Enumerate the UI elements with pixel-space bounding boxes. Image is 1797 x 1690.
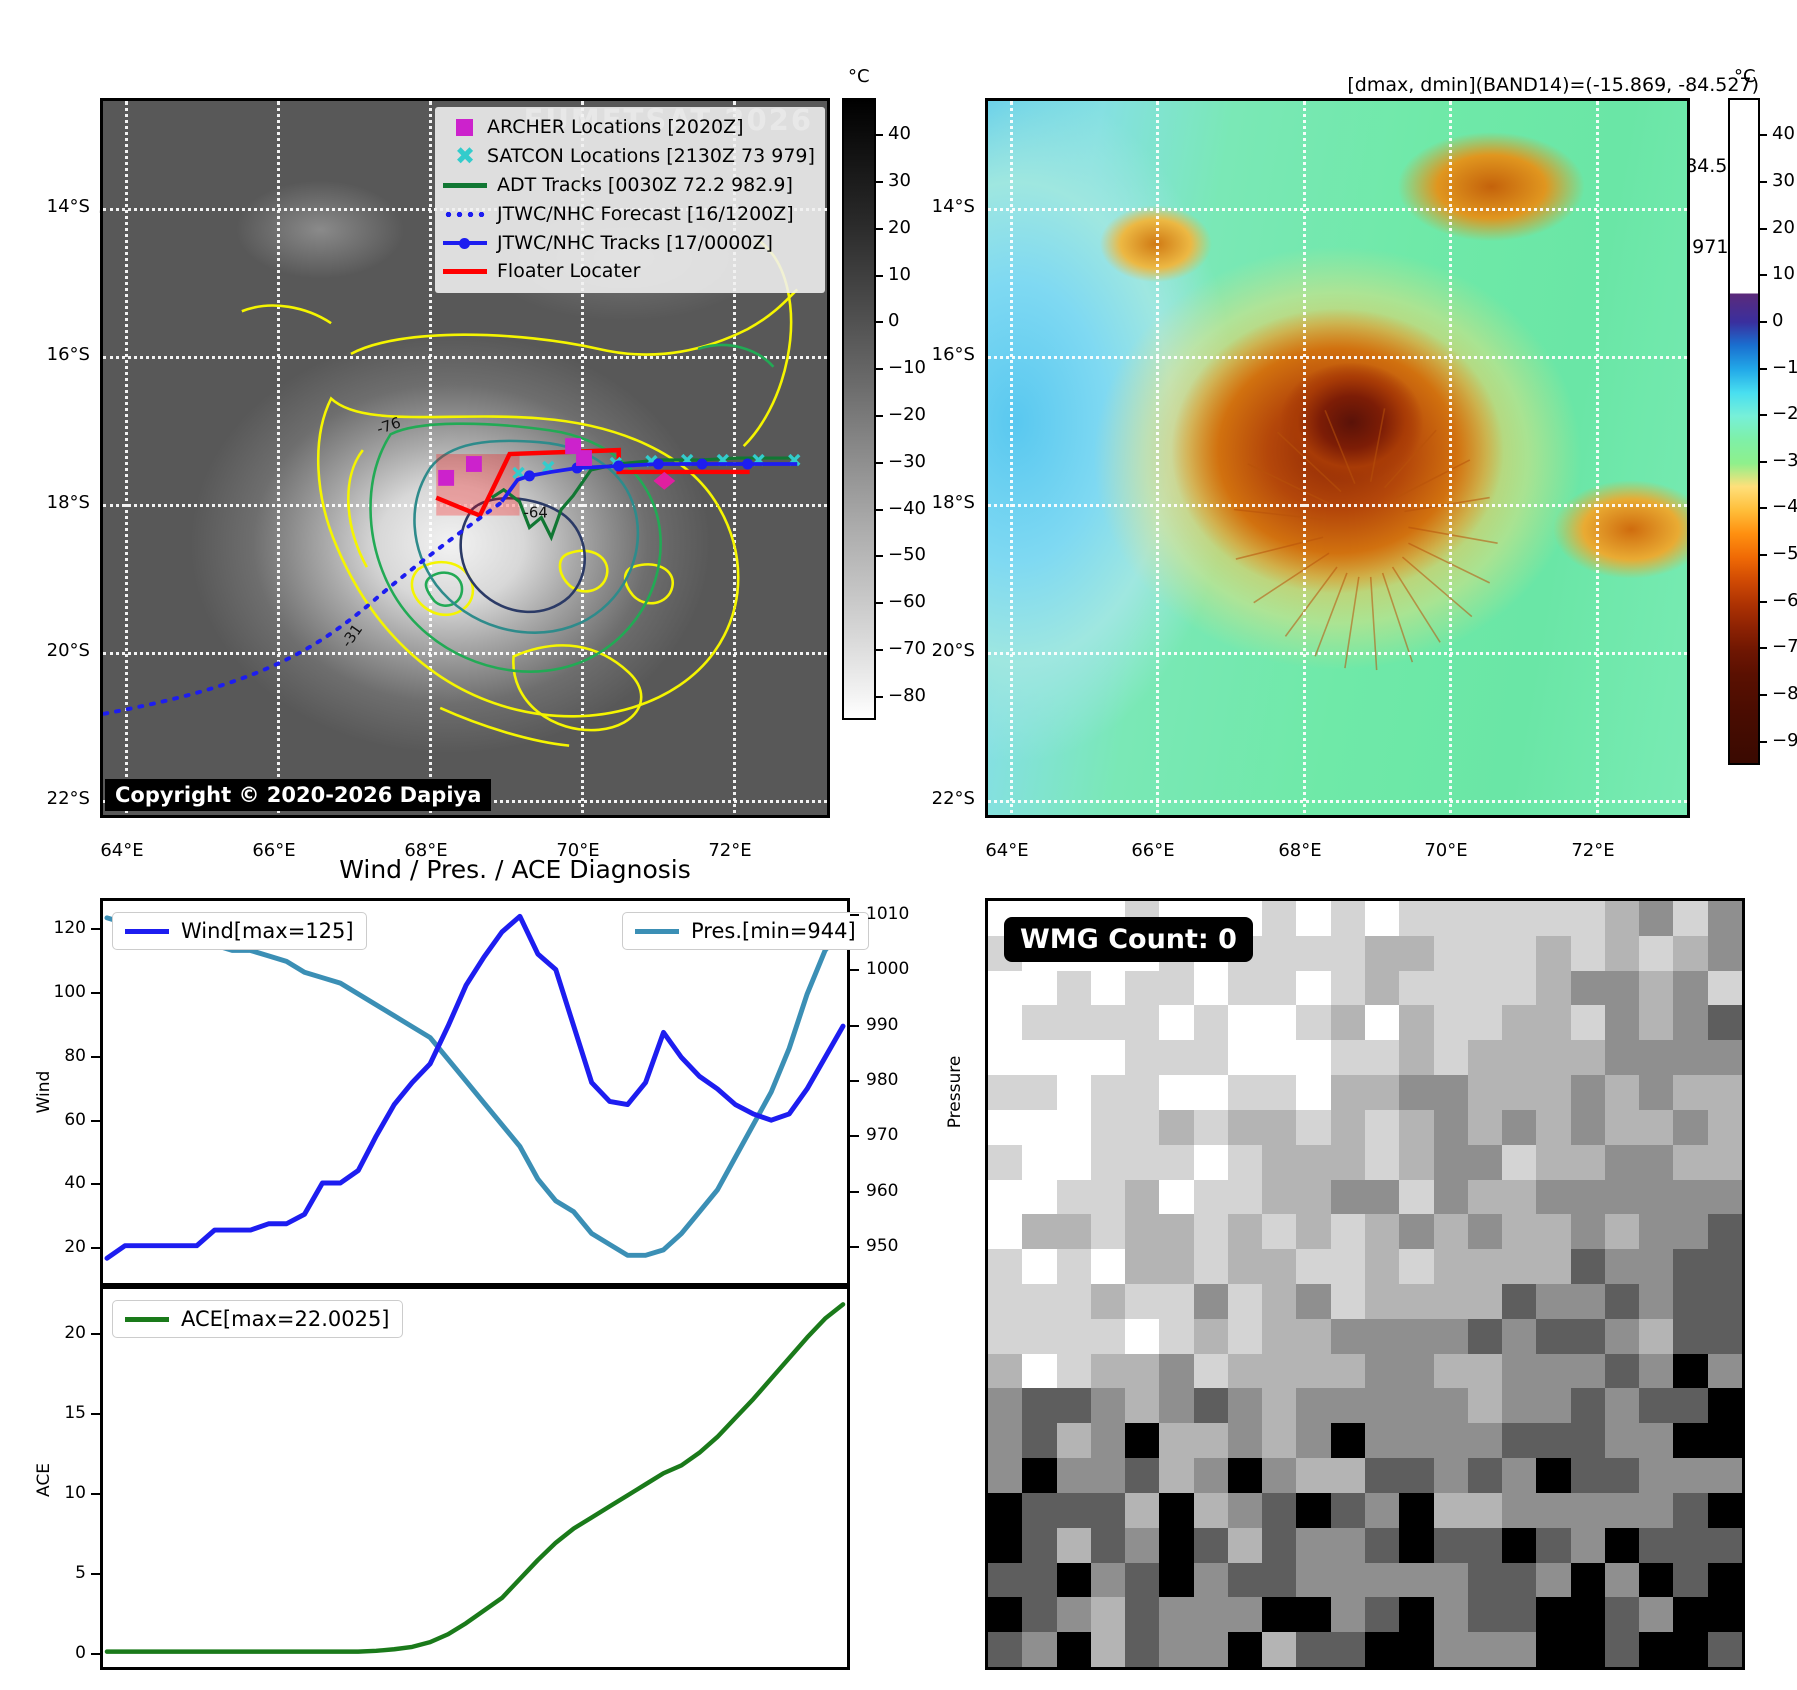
wmg-cell (1536, 1214, 1570, 1249)
wmg-cell (1639, 1423, 1673, 1458)
wmg-cell (1022, 1319, 1056, 1354)
wmg-cell (1605, 1388, 1639, 1423)
wmg-cell (988, 1110, 1022, 1145)
chart-y-tickmark (91, 1413, 100, 1415)
wmg-cell (1673, 1180, 1707, 1215)
wmg-cell (1262, 1354, 1296, 1389)
ace-line-swatch (125, 1317, 169, 1322)
wmg-cell (1125, 1214, 1159, 1249)
wmg-cell (1262, 1423, 1296, 1458)
wmg-cell (1331, 1110, 1365, 1145)
colorbar-tick-label: 20 (888, 217, 911, 238)
wmg-cell (1057, 1214, 1091, 1249)
wmg-cell (1159, 1493, 1193, 1528)
wmg-cell (1639, 1180, 1673, 1215)
wmg-cell (1228, 1388, 1262, 1423)
wmg-cell (1091, 1249, 1125, 1284)
awv-gridline-lat-22s (988, 800, 1690, 803)
wmg-cell (1091, 1214, 1125, 1249)
wmg-cell (1502, 1284, 1536, 1319)
colorbar-tick-label: −20 (888, 404, 926, 425)
wmg-cell (1639, 1597, 1673, 1632)
awv-colorbar-units: °C (1734, 66, 1756, 87)
gridline-lat-18s (103, 504, 830, 507)
wmg-cell (988, 1458, 1022, 1493)
wmg-cell (1228, 1110, 1262, 1145)
chart-series-line (107, 1304, 843, 1651)
wmg-cell (1571, 1145, 1605, 1180)
wmg-cell (1399, 1075, 1433, 1110)
chart-y-tick-label: 990 (866, 1015, 936, 1035)
wmg-cell (1228, 1493, 1262, 1528)
wmg-cell (1399, 1458, 1433, 1493)
wmg-cell (1468, 1388, 1502, 1423)
wmg-cell (1331, 1249, 1365, 1284)
wmg-cell (988, 1249, 1022, 1284)
wmg-cell (1399, 1180, 1433, 1215)
wmg-cell (1536, 1632, 1570, 1667)
wmg-cell (1262, 936, 1296, 971)
gridline-lon-66e (277, 101, 280, 818)
wmg-cell (1296, 1632, 1330, 1667)
wmg-cell (1091, 1388, 1125, 1423)
wmg-cell (1331, 1563, 1365, 1598)
chart-y-tick-label: 980 (866, 1070, 936, 1090)
wmg-cell (1502, 1493, 1536, 1528)
wmg-cell (1125, 1319, 1159, 1354)
wmg-cell (1296, 1563, 1330, 1598)
wmg-cell (1502, 1388, 1536, 1423)
wmg-cell (988, 1632, 1022, 1667)
wmg-cell (1194, 1005, 1228, 1040)
wmg-cell (1536, 1388, 1570, 1423)
wmg-cell (1434, 1354, 1468, 1389)
wmg-cell (1159, 1110, 1193, 1145)
colorbar-tickmark (1760, 321, 1767, 323)
wmg-cell (1708, 936, 1742, 971)
chart-y-tick-label: 5 (16, 1563, 86, 1583)
wmg-cell (1194, 1180, 1228, 1215)
wmg-cell (1262, 1214, 1296, 1249)
wmg-cell (1502, 901, 1536, 936)
wmg-cell (1468, 1597, 1502, 1632)
wmg-cell (1159, 1597, 1193, 1632)
wmg-cell (1571, 1354, 1605, 1389)
wmg-cell (1331, 1145, 1365, 1180)
wmg-cell (1022, 1075, 1056, 1110)
wmg-cell (1159, 1563, 1193, 1598)
wmg-cell (1502, 1180, 1536, 1215)
awv-lon-tick-68e: 68°E (1260, 840, 1340, 861)
awv-colorbar[interactable] (1728, 98, 1760, 765)
wmg-cell (1091, 1354, 1125, 1389)
wmg-cell (1468, 1458, 1502, 1493)
wmg-cell (1365, 1110, 1399, 1145)
wmg-cell (1673, 1005, 1707, 1040)
ace-legend[interactable]: ACE[max=22.0025] (112, 1300, 403, 1338)
chart-y-tickmark (91, 1573, 100, 1575)
awv-gridline-lat-20s (988, 652, 1690, 655)
wmg-cell (1639, 1528, 1673, 1563)
colorbar-tick-label: 10 (1772, 263, 1795, 284)
chart-y-tickmark (91, 1183, 100, 1185)
wmg-cell (1262, 1597, 1296, 1632)
wmg-cell (1468, 901, 1502, 936)
wmg-cell (1708, 1319, 1742, 1354)
wmg-cell (1228, 1214, 1262, 1249)
legend-item-jtwc-tracks: JTWC/NHC Tracks [17/0000Z] (443, 229, 815, 258)
wmg-cell (1091, 971, 1125, 1006)
wmg-cell (1057, 1632, 1091, 1667)
wmg-cell (1262, 1075, 1296, 1110)
wmg-cell (1331, 1528, 1365, 1563)
wmg-cell (1262, 1528, 1296, 1563)
gridline-lat-16s (103, 356, 830, 359)
wmg-cell (1673, 1040, 1707, 1075)
wmg-cell (1399, 1110, 1433, 1145)
wmg-cell (1331, 1423, 1365, 1458)
wmg-cell (1296, 901, 1330, 936)
wmg-cell (1125, 1005, 1159, 1040)
wmg-cell (1296, 1214, 1330, 1249)
chart-y-tickmark (91, 1653, 100, 1655)
wmg-cell (1262, 1493, 1296, 1528)
wmg-cell (1365, 1528, 1399, 1563)
wmg-cell (1434, 1214, 1468, 1249)
wmg-mosaic-grid (988, 901, 1742, 1667)
wmg-cell (1296, 1528, 1330, 1563)
wmg-cell (1434, 1388, 1468, 1423)
pressure-legend[interactable]: Pres.[min=944] (622, 912, 869, 950)
wmg-cell (1468, 1110, 1502, 1145)
wmg-cell (1331, 1458, 1365, 1493)
wmg-cell (1022, 1354, 1056, 1389)
legend-label-jtwc-tracks: JTWC/NHC Tracks [17/0000Z] (497, 229, 773, 258)
wmg-cell (1434, 901, 1468, 936)
wmg-cell (1194, 1214, 1228, 1249)
wmg-cell (1022, 1145, 1056, 1180)
wmg-cell (1639, 1563, 1673, 1598)
wmg-cell (1091, 1458, 1125, 1493)
colorbar-tickmark (876, 696, 883, 698)
chart-series-line (107, 916, 843, 1258)
chart-y-tick-label: 1000 (866, 959, 936, 979)
wmg-cell (1536, 1075, 1570, 1110)
wmg-cell (1331, 1075, 1365, 1110)
wmg-mosaic[interactable]: WMG Count: 0 (985, 898, 1745, 1670)
colorbar-tickmark (876, 415, 883, 417)
chart-y-tickmark (850, 1191, 859, 1193)
colorbar-tick-label: −30 (1772, 450, 1797, 471)
colorbar-tick-label: −80 (888, 685, 926, 706)
wmg-cell (1057, 971, 1091, 1006)
wmg-cell (1057, 1493, 1091, 1528)
wmg-cell (1057, 1005, 1091, 1040)
wmg-cell (988, 1354, 1022, 1389)
wmg-cell (1159, 1354, 1193, 1389)
legend-item-forecast: JTWC/NHC Forecast [16/1200Z] (443, 200, 815, 229)
colorbar-tick-label: 0 (888, 310, 899, 331)
wmg-cell (1571, 1563, 1605, 1598)
gridline-lon-64e (125, 101, 128, 818)
wmg-cell (1365, 1284, 1399, 1319)
wmg-cell (1228, 1458, 1262, 1493)
chart-y-tick-label: 0 (16, 1643, 86, 1663)
colorbar-tick-label: −30 (888, 451, 926, 472)
wmg-cell (1639, 971, 1673, 1006)
wmg-cell (1708, 1388, 1742, 1423)
wmg-cell (1673, 1493, 1707, 1528)
chart-y-tick-label: 960 (866, 1181, 936, 1201)
wmg-cell (1468, 1319, 1502, 1354)
wmg-cell (1331, 1493, 1365, 1528)
wmg-cell (1365, 1563, 1399, 1598)
wmg-cell (1159, 1284, 1193, 1319)
wmg-cell (1194, 1040, 1228, 1075)
wmg-cell (1228, 1597, 1262, 1632)
awv-gridline-lat-16s (988, 356, 1690, 359)
wmg-cell (1536, 1284, 1570, 1319)
floater-line-icon (443, 269, 487, 274)
chart-y-tick-label: 120 (16, 918, 86, 938)
wmg-cell (1502, 971, 1536, 1006)
wmg-cell (1228, 1180, 1262, 1215)
awv-gridline-lon-72e (1596, 101, 1599, 818)
wmg-cell (1708, 1040, 1742, 1075)
chart-y-tick-label: 20 (16, 1323, 86, 1343)
wmg-cell (1639, 1040, 1673, 1075)
wmg-cell (1228, 1528, 1262, 1563)
ir-lat-tick-14s: 14°S (18, 196, 90, 217)
wmg-cell (1057, 1145, 1091, 1180)
wmg-cell (1673, 1632, 1707, 1667)
wmg-cell (1365, 1354, 1399, 1389)
wmg-cell (1468, 1180, 1502, 1215)
chart-y-tickmark (850, 914, 859, 916)
chart-y-tick-label: 970 (866, 1125, 936, 1145)
colorbar-tickmark (876, 134, 883, 136)
legend-label-adt: ADT Tracks [0030Z 72.2 982.9] (497, 171, 793, 200)
wmg-cell (1057, 1249, 1091, 1284)
wmg-cell (1536, 1528, 1570, 1563)
wmg-cell (988, 1180, 1022, 1215)
wmg-cell (1434, 1249, 1468, 1284)
awv-gridline-lon-68e (1303, 101, 1306, 818)
colorbar-tick-label: −70 (1772, 636, 1797, 657)
wmg-cell (1571, 1005, 1605, 1040)
wmg-cell (1194, 1423, 1228, 1458)
wind-line-swatch (125, 929, 169, 934)
header-band14-range: [dmax, dmin](BAND14)=(-15.869, -84.527) (1347, 72, 1759, 99)
wmg-cell (1434, 1005, 1468, 1040)
wmg-cell (988, 1423, 1022, 1458)
wmg-cell (1022, 1458, 1056, 1493)
wmg-cell (1057, 1110, 1091, 1145)
pressure-line-swatch (635, 929, 679, 934)
wmg-cell (1194, 1493, 1228, 1528)
wmg-cell (1091, 1075, 1125, 1110)
wmg-cell (1296, 1458, 1330, 1493)
wmg-cell (1673, 971, 1707, 1006)
wmg-cell (1673, 1284, 1707, 1319)
wmg-cell (1468, 1005, 1502, 1040)
wmg-cell (1708, 1249, 1742, 1284)
wmg-cell (1468, 971, 1502, 1006)
legend-label-floater: Floater Locater (497, 257, 640, 286)
colorbar-tickmark (876, 462, 883, 464)
wmg-cell (1125, 1040, 1159, 1075)
wmg-cell (1022, 1528, 1056, 1563)
wmg-cell (1194, 1319, 1228, 1354)
wmg-cell (1708, 1563, 1742, 1598)
wmg-cell (1331, 936, 1365, 971)
wmg-cell (1022, 1388, 1056, 1423)
wmg-cell (1365, 1423, 1399, 1458)
wmg-cell (1502, 1214, 1536, 1249)
wmg-cell (1571, 1597, 1605, 1632)
wmg-cell (1708, 1528, 1742, 1563)
colorbar-tickmark (1760, 274, 1767, 276)
colorbar-tickmark (1760, 228, 1767, 230)
wmg-cell (1639, 1145, 1673, 1180)
wmg-cell (988, 1284, 1022, 1319)
wmg-cell (1091, 1493, 1125, 1528)
colorbar-tickmark (876, 321, 883, 323)
wmg-cell (1159, 1180, 1193, 1215)
wmg-cell (1091, 1110, 1125, 1145)
wmg-cell (1399, 1319, 1433, 1354)
wmg-cell (1022, 1110, 1056, 1145)
wmg-cell (1262, 1249, 1296, 1284)
wmg-cell (1571, 1180, 1605, 1215)
wmg-cell (1673, 1145, 1707, 1180)
wmg-cell (1434, 1423, 1468, 1458)
wind-axis-title: Wind (34, 1042, 54, 1142)
wmg-cell (1399, 1145, 1433, 1180)
ir-lat-tick-20s: 20°S (18, 640, 90, 661)
wmg-cell (1331, 971, 1365, 1006)
wmg-cell (1639, 936, 1673, 971)
colorbar-tickmark (876, 181, 883, 183)
wmg-cell (1022, 1597, 1056, 1632)
wmg-cell (1159, 1423, 1193, 1458)
colorbar-tick-label: 10 (888, 264, 911, 285)
wmg-cell (1228, 1632, 1262, 1667)
wmg-cell (1125, 1597, 1159, 1632)
wmg-cell (1296, 1284, 1330, 1319)
wmg-cell (1639, 1075, 1673, 1110)
wmg-cell (1228, 1284, 1262, 1319)
wmg-cell (1605, 1040, 1639, 1075)
wmg-cell (1296, 971, 1330, 1006)
wmg-cell (1502, 1597, 1536, 1632)
wmg-count-badge: WMG Count: 0 (1004, 917, 1253, 962)
wmg-cell (1639, 1354, 1673, 1389)
wmg-cell (1468, 1528, 1502, 1563)
infrared-floater-map[interactable]: -76 -64 -31 EUMETSAT 2026 ARCHER Locatio… (100, 98, 830, 818)
wmg-cell (1605, 1319, 1639, 1354)
wmg-cell (1022, 971, 1056, 1006)
chart-y-tickmark (91, 928, 100, 930)
chart-y-tickmark (850, 1135, 859, 1137)
wmg-cell (1194, 1388, 1228, 1423)
wmg-cell (1502, 1632, 1536, 1667)
wmg-cell (1502, 1458, 1536, 1493)
water-vapor-map[interactable] (985, 98, 1690, 818)
wmg-cell (1434, 1180, 1468, 1215)
wmg-cell (1228, 971, 1262, 1006)
wmg-cell (1399, 1423, 1433, 1458)
wmg-cell (988, 1145, 1022, 1180)
wmg-cell (1194, 1632, 1228, 1667)
forecast-dotted-icon (443, 212, 487, 217)
wmg-cell (1502, 1563, 1536, 1598)
awv-gridline-lon-66e (1156, 101, 1159, 818)
wmg-cell (1434, 1110, 1468, 1145)
colorbar-tickmark (876, 228, 883, 230)
wmg-cell (1536, 1563, 1570, 1598)
wmg-cell (1399, 971, 1433, 1006)
wmg-cell (1262, 1284, 1296, 1319)
wmg-cell (988, 1563, 1022, 1598)
ir-colorbar[interactable] (842, 98, 876, 720)
wmg-cell (1091, 1319, 1125, 1354)
wmg-cell (1194, 1284, 1228, 1319)
wmg-cell (1639, 1110, 1673, 1145)
wmg-cell (1536, 1493, 1570, 1528)
wmg-cell (1125, 1423, 1159, 1458)
wind-pressure-chart[interactable] (100, 898, 850, 1286)
wmg-cell (1057, 1563, 1091, 1598)
colorbar-tick-label: 30 (1772, 170, 1795, 191)
chart-y-tickmark (91, 1056, 100, 1058)
colorbar-tick-label: 30 (888, 170, 911, 191)
wmg-cell (1125, 1284, 1159, 1319)
wmg-cell (1022, 1214, 1056, 1249)
wmg-cell (1296, 1249, 1330, 1284)
map-legend: ARCHER Locations [2020Z] ✖ SATCON Locati… (435, 107, 825, 293)
wmg-cell (1331, 1388, 1365, 1423)
colorbar-tickmark (1760, 554, 1767, 556)
wmg-cell (1262, 1180, 1296, 1215)
awv-lon-tick-70e: 70°E (1406, 840, 1486, 861)
wind-legend-label: Wind[max=125] (181, 919, 354, 943)
wmg-cell (1605, 1110, 1639, 1145)
wmg-cell (1022, 1040, 1056, 1075)
wmg-cell (1228, 1040, 1262, 1075)
wind-legend[interactable]: Wind[max=125] (112, 912, 367, 950)
awv-lon-tick-64e: 64°E (967, 840, 1047, 861)
wmg-cell (1331, 1284, 1365, 1319)
wmg-cell (1159, 1145, 1193, 1180)
ace-chart[interactable] (100, 1286, 850, 1670)
adt-line-icon (443, 183, 487, 188)
wmg-cell (1708, 1423, 1742, 1458)
wmg-cell (1194, 1110, 1228, 1145)
wmg-cell (1605, 1354, 1639, 1389)
wmg-cell (1708, 971, 1742, 1006)
wmg-cell (1296, 1040, 1330, 1075)
wmg-cell (1022, 1423, 1056, 1458)
wmg-cell (1057, 1423, 1091, 1458)
wmg-cell (1194, 1075, 1228, 1110)
wmg-cell (1708, 1354, 1742, 1389)
wmg-cell (1605, 936, 1639, 971)
wmg-cell (1125, 1632, 1159, 1667)
wmg-cell (1331, 1214, 1365, 1249)
colorbar-tickmark (1760, 181, 1767, 183)
wmg-cell (1536, 1040, 1570, 1075)
